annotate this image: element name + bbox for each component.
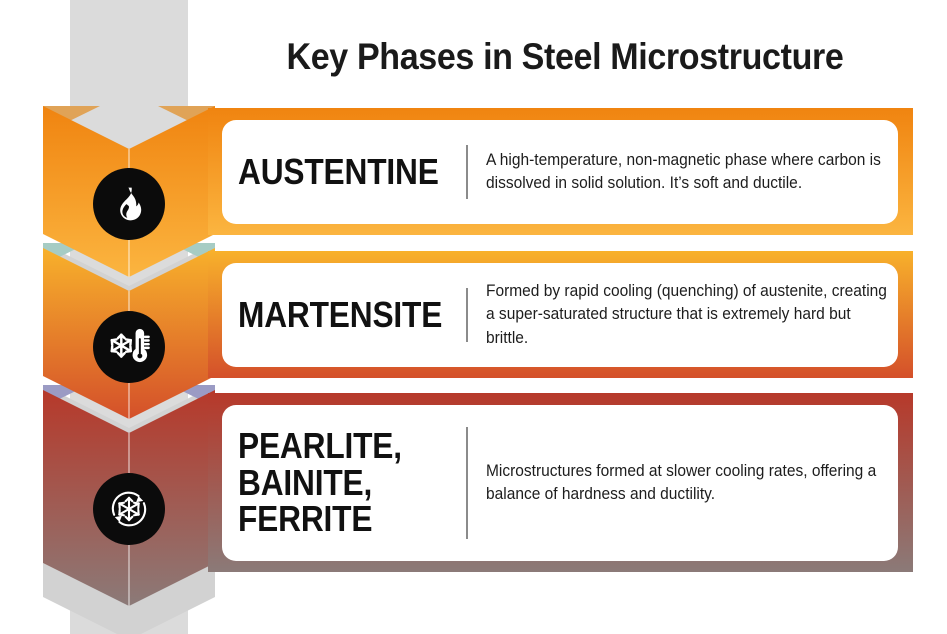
accent-triangle-lavender-right (170, 385, 215, 407)
phase-label-2: MARTENSITE (238, 297, 439, 334)
card-divider-3 (466, 427, 468, 539)
card-divider-1 (466, 145, 468, 199)
phase-label-3: PEARLITE, BAINITE, FERRITE (238, 428, 439, 538)
flame-icon (93, 168, 165, 240)
accent-triangle-teal-right (170, 243, 215, 265)
phase-card-2[interactable]: MARTENSITE Formed by rapid cooling (quen… (222, 263, 898, 367)
accent-triangle-teal-left (43, 243, 88, 265)
page-title: Key Phases in Steel Microstructure (243, 36, 887, 78)
phase-description-2: Formed by rapid cooling (quenching) of a… (486, 280, 890, 350)
snowflake-cycle-icon (93, 473, 165, 545)
phase-description-3: Microstructures formed at slower cooling… (486, 460, 890, 507)
chevron-band-gray-1 (43, 243, 215, 320)
chevron-band-gray-3 (43, 563, 215, 634)
infographic-root: Key Phases in Steel Microstructure (0, 0, 947, 634)
phase-description-1: A high-temperature, non-magnetic phase w… (486, 149, 890, 196)
accent-triangle-shoulder-left (43, 106, 100, 134)
thermometer-snowflake-icon (93, 311, 165, 383)
accent-triangle-lavender-left (43, 385, 88, 407)
chevron-band-gray-2 (43, 385, 215, 462)
accent-triangle-shoulder-right (158, 106, 215, 134)
phase-card-1[interactable]: AUSTENTINE A high-temperature, non-magne… (222, 120, 898, 224)
card-divider-2 (466, 288, 468, 342)
phase-label-1: AUSTENTINE (238, 154, 439, 191)
phase-card-3[interactable]: PEARLITE, BAINITE, FERRITE Microstructur… (222, 405, 898, 561)
